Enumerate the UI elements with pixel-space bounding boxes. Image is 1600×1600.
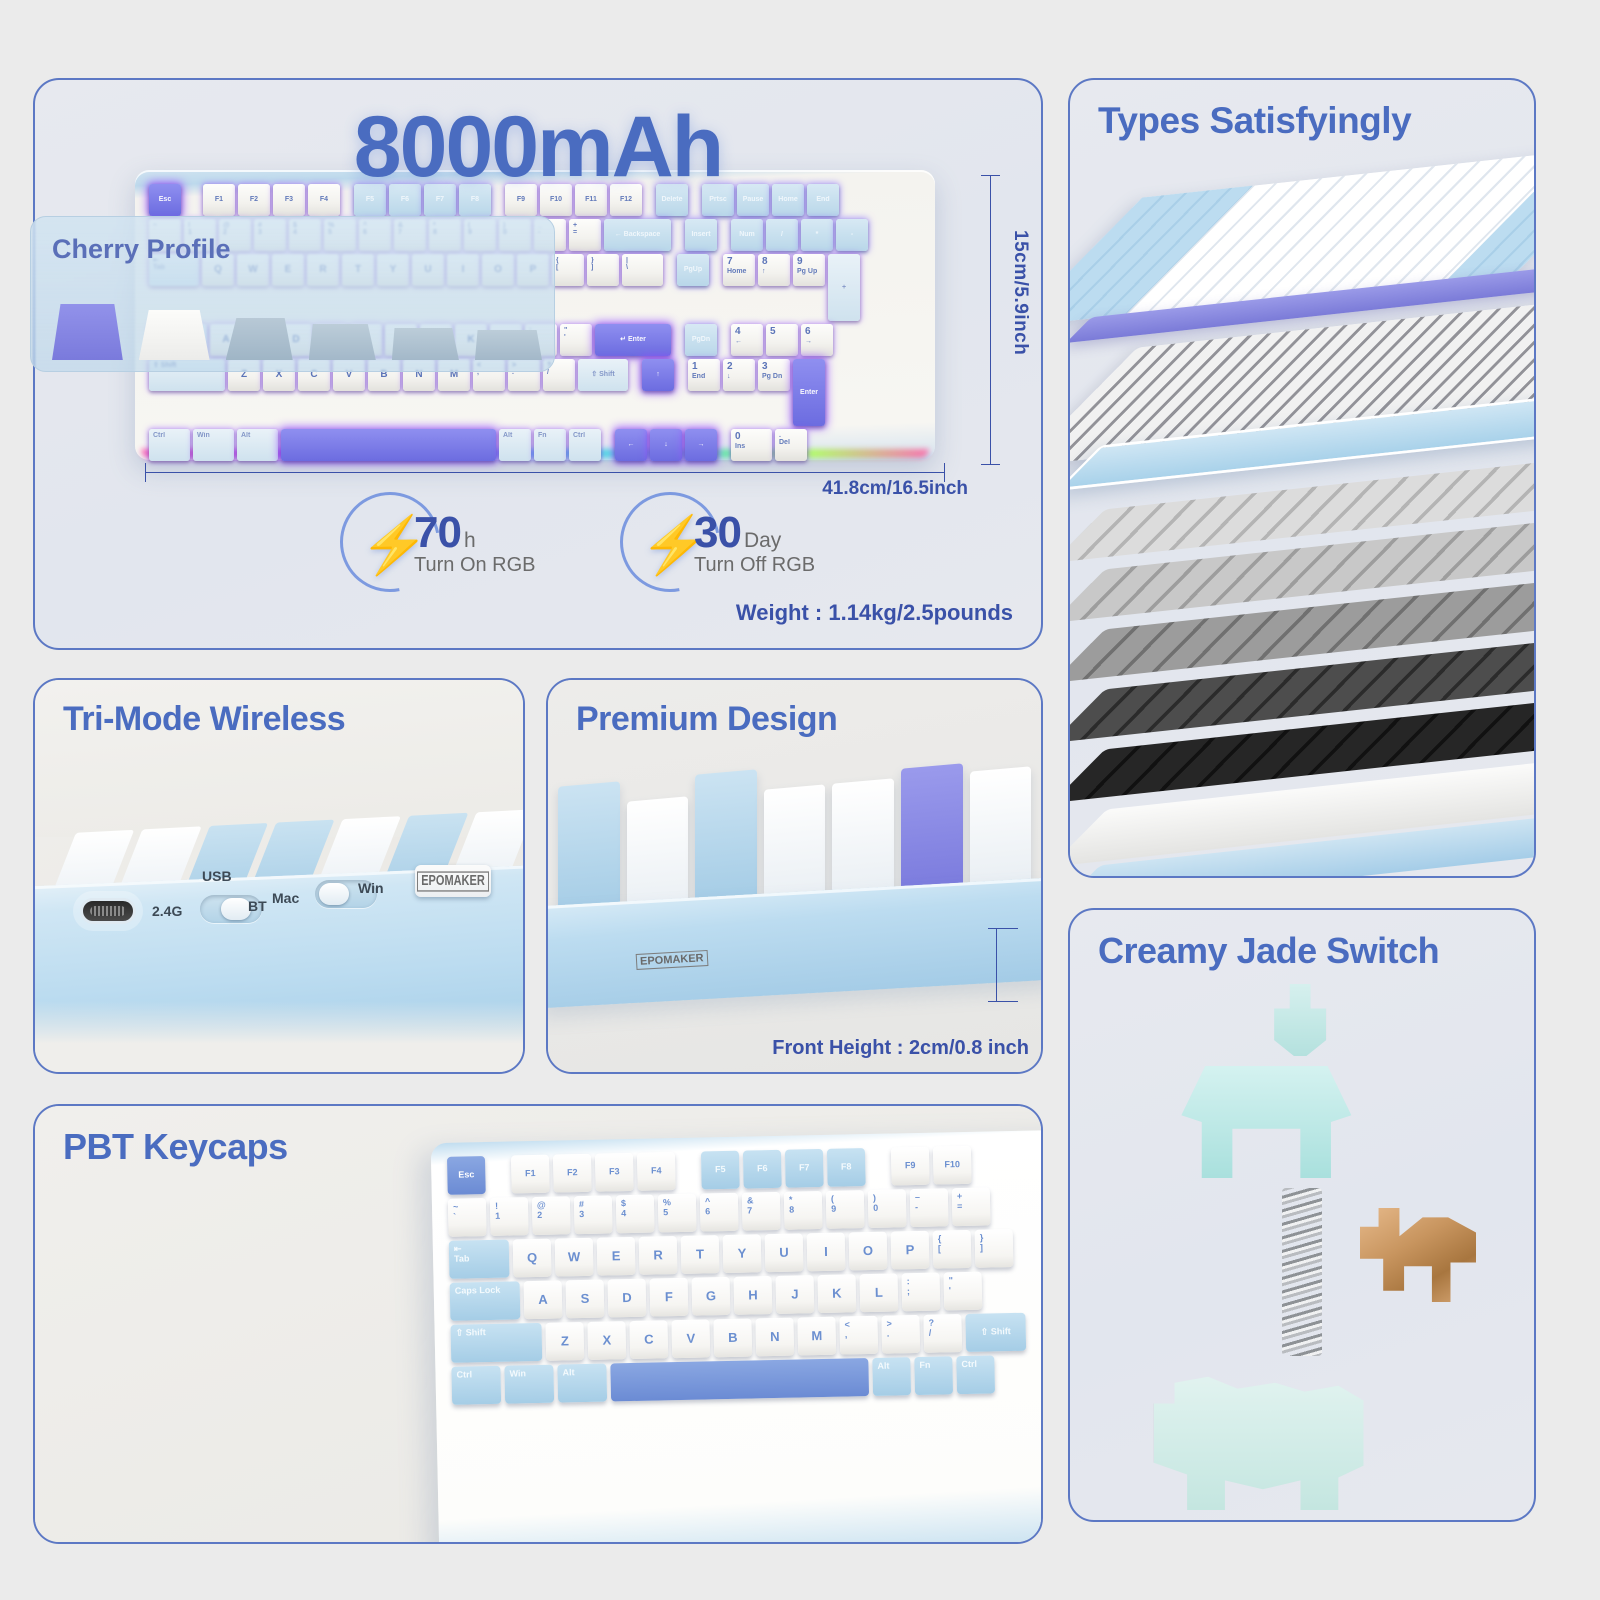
key-numpad-7: 7Home [723,254,755,286]
key-a: A [524,1280,563,1319]
profile-keycap-r1 [52,304,123,360]
key-space [610,1358,869,1401]
key-bracket-left: {[ [552,254,584,286]
title-creamy-jade-switch: Creamy Jade Switch [1098,930,1439,972]
spacer [869,1148,888,1186]
key-0: )0 [868,1189,907,1228]
key-pagedown: PgDn [685,324,717,356]
key-bracket-right: }] [587,254,619,286]
stat-number: 70 [414,508,461,557]
label-front-height: Front Height : 2cm/0.8 inch [772,1037,1029,1060]
toggle-knob[interactable] [221,898,251,920]
key-numpad-period: .Del [775,429,807,461]
key-p: P [891,1231,930,1270]
stat-value-line: 30Day [694,508,815,558]
key-f6: F6 [743,1150,782,1189]
key-quote: "' [943,1272,982,1311]
cherry-profile-keycap-row [52,290,542,360]
brand-name: EPOMAKER [417,871,489,891]
switch-bottom-housing-part [1154,1362,1364,1510]
keyboard-photo-pbt: Esc F1 F2 F3 F4 F5 F6 F7 F8 F9 F10 ~` !1… [431,1129,1043,1544]
stat-value-line: 70h [414,508,536,558]
key-numpad-enter: Enter [793,359,825,426]
spacer [666,254,674,321]
key-c: C [629,1320,668,1359]
key-numpad-3: 3Pg Dn [758,359,790,391]
stat-unit: h [464,529,476,552]
pbt-row-function: Esc F1 F2 F3 F4 F5 F6 F7 F8 F9 F10 [447,1143,1043,1195]
keyboard-row-modifiers: Ctrl Win Alt Alt Fn Ctrl ← ↓ → 0Ins .Del [149,429,923,461]
key-arrow-left: ← [615,429,647,461]
key-g: G [692,1277,731,1316]
key-e: E [597,1237,636,1276]
key-r: R [639,1236,678,1275]
key-comma: <, [839,1316,878,1355]
key-5: %5 [658,1194,697,1233]
key-w: W [555,1238,594,1277]
switch-spring-part [1282,1188,1322,1356]
key-backslash: |\ [622,254,663,286]
key-6: ^6 [700,1193,739,1232]
key-ctrl-left: Ctrl [149,429,190,461]
key-l: L [860,1273,899,1312]
spacer [712,254,720,321]
key-numpad-5: 5 [766,324,798,356]
key-3: #3 [574,1195,613,1234]
key-f3: F3 [595,1153,634,1192]
key-shift-right: ⇧ Shift [965,1313,1026,1352]
key-space [281,429,496,461]
spacer [604,429,612,461]
key-ctrl-right: Ctrl [569,429,601,461]
key-v: V [671,1319,710,1358]
key-j: J [776,1275,815,1314]
key-numpad-divide: / [766,219,798,251]
stat-rgb-on: ⚡ 70h Turn On RGB [340,492,536,592]
switch-stem-part [1274,984,1326,1056]
key-1: !1 [490,1197,529,1236]
stat-text: 30Day Turn Off RGB [694,508,815,577]
spacer [674,219,682,251]
key-y: Y [723,1234,762,1273]
label-keyboard-height: 15cm/5.9inch [1009,230,1031,355]
profile-keycap-r3 [226,318,293,360]
spacer [677,359,685,426]
profile-keycap-r6 [475,330,542,360]
spacer [674,324,682,356]
key-q: Q [513,1239,552,1278]
key-m: M [797,1317,836,1356]
label-cherry-profile: Cherry Profile [52,234,231,265]
key-minus: –- [910,1188,949,1227]
brand-badge-wireless: EPOMAKER [415,865,491,897]
key-2: @2 [532,1196,571,1235]
key-numpad-4: 4← [731,324,763,356]
label-keyboard-width: 41.8cm/16.5inch [822,478,968,500]
toggle-knob[interactable] [319,883,349,905]
spacer [720,219,728,251]
key-numpad-6: 6→ [801,324,833,356]
infographic-stage: 8000mAh Esc F1 F2 F3 F4 F5 F6 F7 F8 [0,0,1600,1600]
key-numpad-8: 8↑ [758,254,790,286]
spacer [720,324,728,356]
key-arrow-up: ↑ [642,359,674,391]
key-f9: F9 [891,1147,930,1186]
key-period: >. [881,1315,920,1354]
keycap-shape [139,310,210,360]
key-f10: F10 [933,1146,972,1185]
key-fn: Fn [914,1356,953,1395]
key-insert: Insert [685,219,717,251]
stat-number: 30 [694,508,741,557]
key-numpad-plus: + [828,254,860,321]
title-types-satisfyingly: Types Satisfyingly [1098,100,1411,142]
panel-pbt-keycaps: Esc F1 F2 F3 F4 F5 F6 F7 F8 F9 F10 ~` !1… [33,1104,1043,1544]
stat-caption: Turn Off RGB [694,554,815,577]
key-tilde: ~` [448,1198,487,1237]
key-capslock: Caps Lock [450,1281,521,1320]
height-measure-line [990,175,991,465]
key-fn: Fn [534,429,566,461]
panel-types-satisfyingly [1068,78,1536,878]
keycap-shape [226,318,293,360]
key-s: S [566,1280,605,1319]
key-numpad-9: 9Pg Up [793,254,825,286]
key-7: &7 [742,1192,781,1231]
usb-c-port-icon [80,898,136,924]
keycap-shape [309,324,376,360]
title-tri-mode-wireless: Tri-Mode Wireless [63,700,345,739]
label-usb: USB [202,868,232,884]
key-u: U [765,1233,804,1272]
key-alt-left: Alt [557,1364,607,1403]
switch-top-housing-part [1181,1066,1351,1178]
stat-unit: Day [744,529,781,552]
key-8: *8 [784,1191,823,1230]
key-backspace: ← Backspace [604,219,671,251]
key-i: I [807,1233,846,1272]
key-win: Win [504,1365,554,1404]
battery-headline: 8000mAh [35,98,1041,197]
key-shift-left: ⇧ Shift [450,1323,542,1363]
spacer [679,1152,698,1190]
key-equal: += [569,219,601,251]
key-numpad-1: 1End [688,359,720,391]
key-t: T [681,1235,720,1274]
key-alt-left: Alt [237,429,278,461]
profile-keycap-r5 [392,328,459,360]
key-enter: ↵ Enter [595,324,671,356]
key-quote: "' [560,324,592,356]
key-alt-right: Alt [872,1357,911,1396]
stat-rgb-off: ⚡ 30Day Turn Off RGB [620,492,815,592]
key-pageup: PgUp [677,254,709,286]
key-alt-right: Alt [499,429,531,461]
keycap-shape [392,328,459,360]
key-f7: F7 [785,1149,824,1188]
key-shift-right: ⇧ Shift [578,359,628,391]
key-numpad-0: 0Ins [731,429,772,461]
keycap-shape [475,330,542,360]
key-b: B [713,1318,752,1357]
key-tab: ⇤Tab [449,1240,510,1279]
stat-text: 70h Turn On RGB [414,508,536,577]
key-z: Z [545,1322,584,1361]
key-4: $4 [616,1195,655,1234]
key-n: N [755,1318,794,1357]
label-mac: Mac [272,890,299,906]
key-bracket-left: {[ [933,1230,972,1269]
photo-shadow [35,1001,523,1072]
key-f4: F4 [637,1152,676,1191]
key-o: O [849,1232,888,1271]
key-f: F [650,1278,689,1317]
switch-metal-leaf-part [1360,1208,1476,1302]
key-f8: F8 [827,1148,866,1187]
exploded-view-stack [1070,170,1534,876]
key-bracket-right: }] [975,1229,1014,1268]
key-f1: F1 [511,1155,550,1194]
stat-caption: Turn On RGB [414,554,536,577]
title-premium-design: Premium Design [576,700,837,739]
key-equal: += [952,1187,991,1226]
key-numpad-multiply: * [801,219,833,251]
key-arrow-right: → [685,429,717,461]
switch-exploded-view [1070,980,1534,1500]
label-24g: 2.4G [152,903,182,919]
panel-creamy-jade-switch [1068,908,1536,1522]
spacer [489,1156,508,1194]
spacer [631,359,639,426]
title-pbt-keycaps: PBT Keycaps [63,1126,288,1168]
keycap-shape [52,304,123,360]
key-numpad-2: 2↓ [723,359,755,391]
profile-keycap-r2 [139,310,210,360]
key-ctrl-left: Ctrl [451,1366,501,1405]
profile-keycap-r4 [309,324,376,360]
key-arrow-down: ↓ [650,429,682,461]
key-9: (9 [826,1190,865,1229]
keycaps-accent-right [1447,143,1536,280]
key-f5: F5 [701,1151,740,1190]
label-bt: BT [248,898,267,914]
key-d: D [608,1279,647,1318]
label-weight: Weight : 1.14kg/2.5pounds [736,600,1013,626]
width-measure-line [145,472,945,473]
key-h: H [734,1276,773,1315]
key-f2: F2 [553,1154,592,1193]
key-semicolon: :; [902,1273,941,1312]
front-height-measure-line [996,928,997,1002]
key-numpad-minus: - [836,219,868,251]
key-x: X [587,1321,626,1360]
label-win: Win [358,880,384,896]
key-k: K [818,1274,857,1313]
key-slash: ?/ [923,1314,962,1353]
key-numlock: Num [731,219,763,251]
key-win: Win [193,429,234,461]
spacer [720,429,728,461]
key-ctrl-right: Ctrl [956,1355,995,1394]
key-esc: Esc [447,1156,486,1195]
